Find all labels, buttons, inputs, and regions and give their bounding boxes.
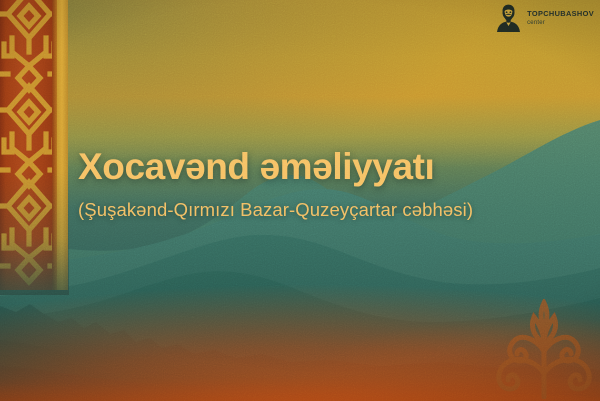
logo-text-block: TOPCHUBASHOV center [527, 10, 594, 25]
logo-name: TOPCHUBASHOV [527, 10, 594, 17]
page-title: Xocavənd əməliyyatı [78, 148, 578, 186]
page-subtitle: (Şuşakənd-Qırmızı Bazar-Quzeyçartar cəbh… [78, 199, 578, 221]
poster-canvas: Xocavənd əməliyyatı (Şuşakənd-Qırmızı Ba… [0, 0, 600, 401]
palmette-scroll-ornament [492, 299, 596, 399]
logo-subtitle: center [527, 20, 594, 26]
carpet-bottom-fade [0, 170, 69, 295]
topchubashov-portrait-icon [495, 4, 522, 32]
topchubashov-logo[interactable]: TOPCHUBASHOV center [495, 3, 594, 33]
poster-text-block: Xocavənd əməliyyatı (Şuşakənd-Qırmızı Ba… [78, 148, 578, 221]
